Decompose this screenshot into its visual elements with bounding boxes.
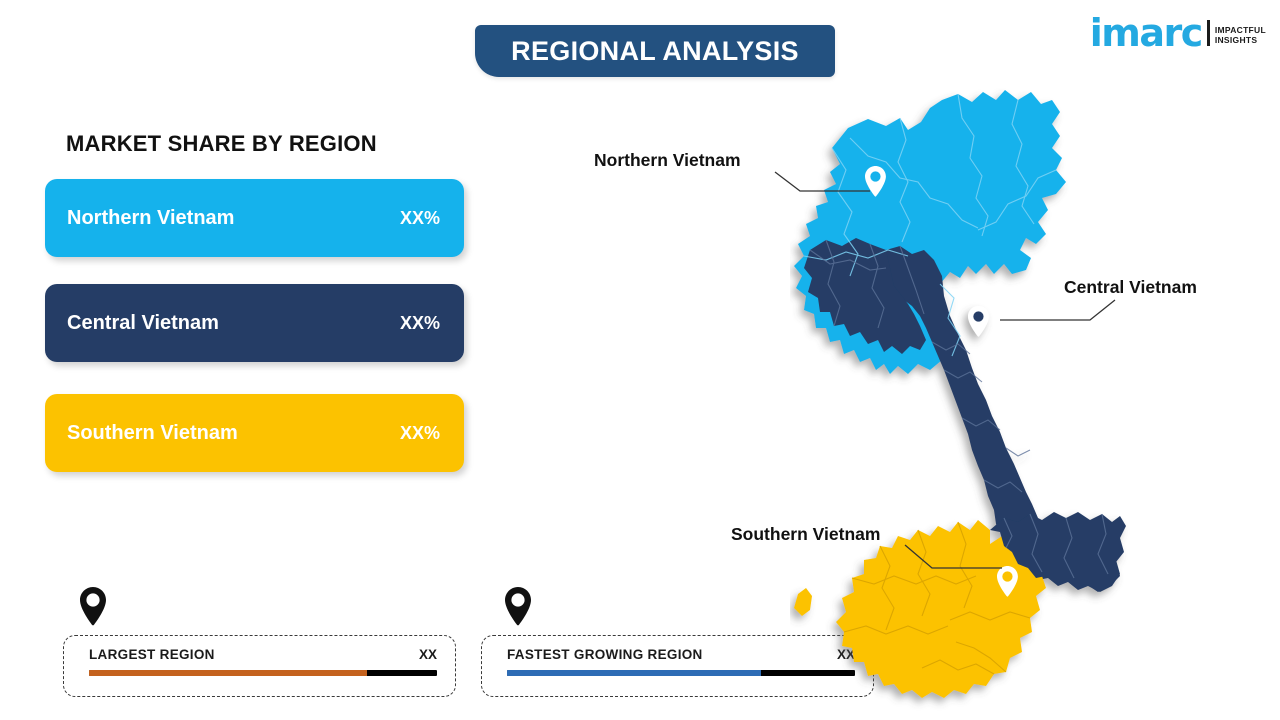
share-bar-value: XX% bbox=[400, 208, 440, 229]
share-bar-central-vietnam[interactable]: Central Vietnam XX% bbox=[45, 284, 464, 362]
largest-region-progress-fill bbox=[89, 670, 367, 676]
largest-region-progress-track bbox=[89, 670, 437, 676]
imarc-logo: imarc IMPACTFUL INSIGHTS bbox=[1090, 16, 1266, 50]
share-bar-value: XX% bbox=[400, 313, 440, 334]
callout-label-northern-vietnam: Northern Vietnam bbox=[594, 150, 741, 171]
share-bar-label: Central Vietnam bbox=[67, 312, 400, 335]
logo-tagline: IMPACTFUL INSIGHTS bbox=[1215, 26, 1266, 50]
logo-tagline-line2: INSIGHTS bbox=[1215, 36, 1266, 46]
callout-label-central-vietnam: Central Vietnam bbox=[1064, 277, 1197, 298]
logo-divider bbox=[1207, 20, 1210, 46]
map-region-southern-islet bbox=[794, 588, 812, 616]
largest-region-value: XX bbox=[419, 647, 437, 662]
page-title: REGIONAL ANALYSIS bbox=[511, 36, 799, 67]
logo-wordmark: imarc bbox=[1090, 16, 1202, 50]
slide-canvas: REGIONAL ANALYSIS imarc IMPACTFUL INSIGH… bbox=[0, 0, 1280, 720]
fastest-growing-region-progress-fill bbox=[507, 670, 761, 676]
map-pin-icon bbox=[78, 586, 108, 626]
largest-region-label: LARGEST REGION bbox=[89, 647, 419, 662]
page-title-banner: REGIONAL ANALYSIS bbox=[475, 25, 835, 77]
share-bar-southern-vietnam[interactable]: Southern Vietnam XX% bbox=[45, 394, 464, 472]
fastest-growing-region-label: FASTEST GROWING REGION bbox=[507, 647, 837, 662]
largest-region-card: LARGEST REGION XX bbox=[63, 635, 456, 697]
vietnam-map[interactable] bbox=[790, 78, 1270, 720]
share-bar-label: Southern Vietnam bbox=[67, 422, 400, 445]
share-bar-value: XX% bbox=[400, 423, 440, 444]
share-bar-northern-vietnam[interactable]: Northern Vietnam XX% bbox=[45, 179, 464, 257]
market-share-heading: MARKET SHARE BY REGION bbox=[66, 131, 377, 157]
map-pin-icon bbox=[503, 586, 533, 626]
callout-label-southern-vietnam: Southern Vietnam bbox=[731, 524, 880, 545]
share-bar-label: Northern Vietnam bbox=[67, 207, 400, 230]
